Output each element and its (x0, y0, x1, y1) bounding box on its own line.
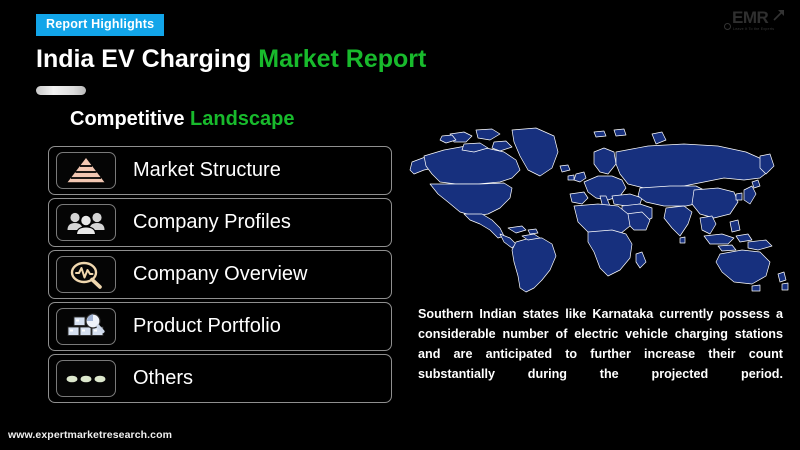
people-group-icon (56, 204, 116, 241)
list-item[interactable]: Market Structure (48, 146, 392, 195)
logo-text: EMR (732, 9, 768, 26)
section-title-white: Competitive (70, 108, 190, 130)
pyramid-icon (56, 152, 116, 189)
section-title-green: Landscape (190, 108, 294, 130)
page-title-white: India EV Charging (36, 45, 258, 73)
section-title: Competitive Landscape (70, 108, 295, 131)
list-item-label: Company Overview (133, 263, 308, 286)
title-underline-pill (36, 86, 86, 95)
list-item[interactable]: Others (48, 354, 392, 403)
list-item[interactable]: Company Overview (48, 250, 392, 299)
list-item-label: Company Profiles (133, 211, 291, 234)
emr-logo: EMR Leave It To the Experts (718, 8, 790, 38)
report-highlights-badge: Report Highlights (36, 14, 164, 36)
magnifier-pulse-icon (56, 256, 116, 293)
list-item-label: Product Portfolio (133, 315, 281, 338)
three-dots-icon (56, 360, 116, 397)
highlights-list: Market Structure Company Profiles Compan… (48, 146, 392, 403)
world-map (408, 126, 792, 298)
page-title: India EV Charging Market Report (36, 45, 426, 74)
boxes-magnifier-icon (56, 308, 116, 345)
list-item-label: Others (133, 367, 193, 390)
logo-dot-icon (724, 23, 731, 30)
map-description-text: Southern Indian states like Karnataka cu… (418, 305, 783, 404)
page-title-green: Market Report (258, 45, 426, 73)
footer-url: www.expertmarketresearch.com (8, 429, 172, 441)
list-item-label: Market Structure (133, 159, 281, 182)
list-item[interactable]: Company Profiles (48, 198, 392, 247)
list-item[interactable]: Product Portfolio (48, 302, 392, 351)
logo-arrow-icon (772, 8, 786, 22)
logo-tagline: Leave It To the Experts (733, 27, 774, 31)
